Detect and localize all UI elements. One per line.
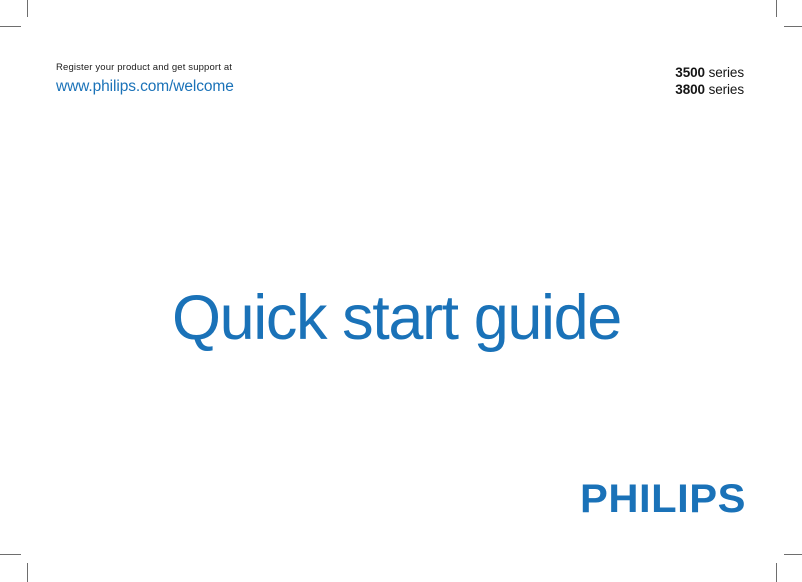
crop-mark-bottom-left-vertical [27, 563, 28, 582]
philips-wordmark-svg: PHILIPS [580, 481, 746, 519]
crop-mark-bottom-right-vertical [776, 563, 777, 582]
page-title: Quick start guide [172, 283, 621, 353]
series-label: series [709, 82, 744, 97]
philips-wordmark-label: PHILIPS [580, 481, 746, 519]
register-prompt-text: Register your product and get support at [56, 62, 234, 74]
philips-logo: PHILIPS [580, 481, 746, 519]
quick-start-guide-cover-page: Register your product and get support at… [0, 0, 802, 582]
product-series-block: 3500 series 3800 series [675, 65, 744, 98]
series-number: 3800 [675, 82, 705, 97]
crop-mark-top-left-vertical [27, 0, 28, 17]
crop-mark-bottom-right-horizontal [784, 554, 802, 555]
crop-mark-bottom-left-horizontal [0, 554, 21, 555]
crop-mark-top-left-horizontal [0, 26, 21, 27]
crop-mark-top-right-vertical [776, 0, 777, 17]
crop-mark-top-right-horizontal [784, 26, 802, 27]
series-label: series [709, 65, 744, 80]
philips-welcome-url-link[interactable]: www.philips.com/welcome [56, 77, 234, 97]
product-series-row: 3500 series [675, 65, 744, 82]
product-series-row: 3800 series [675, 82, 744, 99]
register-product-block: Register your product and get support at… [56, 62, 234, 97]
series-number: 3500 [675, 65, 705, 80]
